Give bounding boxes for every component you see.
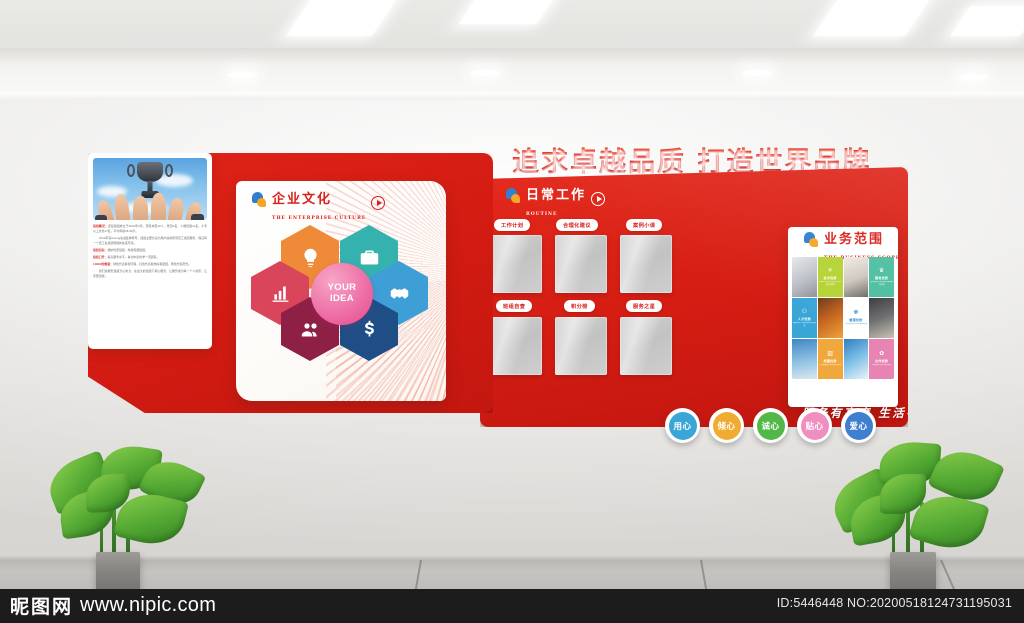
trophy-icon [137,162,163,182]
room-scene: 追求卓越品质 打造世界品牌 日常工作 ROUTINE 工作计划 合理化建议 案例… [0,0,1024,623]
value-badge-label: 贴心 [801,412,829,440]
scope-photo-tile[interactable] [818,298,843,338]
idea-line2: IDEA [330,294,354,305]
enterprise-culture-card: 企业文化 THE ENTERPRISE CULTURE [236,181,446,401]
trophy-handle-icon [127,164,135,177]
team-body-paragraph: 班组目标：维护优质班组，构建和谐班组。 [93,248,207,253]
routine-pill[interactable]: 合理化建议 [556,219,598,231]
team-and-culture-panel: 班组简介 TEAM PROFILE [88,153,493,413]
potted-plant-right [828,438,1008,578]
culture-heading: 企业文化 THE ENTERPRISE CULTURE [250,191,385,223]
scope-tile-label: 管理优势 [849,317,862,322]
watermark-id: ID:5446448 NO:20200518124731195031 [777,596,1012,610]
team-body-paragraph: 班组口号：提高服务水平，争创中泰化学一流团队。 [93,255,207,260]
team-profile-card: 班组概况：该班组组成立于2012年3月，现有成员22人，党员2名，少数民族11名… [88,153,212,349]
routine-pill[interactable]: 工作计划 [494,219,530,231]
routine-pill[interactable]: 班组自查 [496,300,532,312]
value-badge[interactable]: 诚心 [753,408,788,443]
scope-tile-subtext: 高素质人才梯队持续培养输送 [793,322,816,327]
team-body-key: 班组口号： [93,255,107,259]
team-body-key: 班组概况： [93,224,108,228]
play-arrow-icon [371,196,385,210]
scope-tile-icon: ✾ [853,310,858,316]
culture-hexagon-cluster: YOUR IDEA [248,225,436,365]
scope-tile-label: 技术优势 [824,275,837,280]
scope-tile-label: 人才优势 [798,316,811,321]
team-body-paragraph: 班组概况：该班组组成立于2012年3月，现有成员22人，党员2名，少数民族11名… [93,224,207,233]
scope-info-tile[interactable]: ✾管理优势科学管理体系规范高效运营 [844,298,869,338]
routine-pill[interactable]: 积分榜 [564,300,595,312]
ceiling-light-panel [950,6,1024,36]
scope-tile-icon: ♛ [879,268,884,274]
your-idea-center-badge: YOUR IDEA [311,263,373,325]
bubble-dots-icon [250,192,267,209]
trophy-photo [93,158,207,220]
potted-plant-left [40,440,210,575]
routine-title-cn: 日常工作 [526,188,586,203]
scope-tile-label: 服务优势 [875,275,888,280]
scope-title-cn: 业务范围 [824,232,884,247]
watermark-url: www.nipic.com [80,594,216,617]
scope-tile-label: 质量优势 [824,358,837,363]
ceiling-light-panel [813,0,935,36]
watermark-left: 昵图网 www.nipic.com [10,592,216,619]
scope-photo-tile[interactable] [869,298,894,338]
ceiling-downlight [470,70,500,76]
scope-tile-subtext: 专业技术团队提供全方位技术支持服务 [819,281,842,286]
bubble-dots-icon [802,232,819,249]
value-badge-label: 诚心 [757,412,785,440]
ceiling-downlight [958,74,988,80]
culture-title-en: THE ENTERPRISE CULTURE [272,216,366,221]
scope-tile-subtext: 严格质量管控标准层层把关 [819,364,842,367]
routine-title-en: ROUTINE [526,212,557,217]
ceiling-light-panel [459,0,560,24]
team-body-key: LOGO的寓意： [93,262,113,266]
photo-frame[interactable] [555,235,607,293]
scope-tile-subtext: 科学管理体系规范高效运营 [845,323,868,326]
play-arrow-icon [591,192,605,206]
scope-tile-label: 合作优势 [875,358,888,363]
scope-photo-tile[interactable] [792,257,817,297]
business-scope-mosaic: ☀技术优势专业技术团队提供全方位技术支持服务♛服务优势全天候客户服务响应快速解决… [792,257,894,379]
scope-tile-icon: ▥ [827,351,833,357]
team-body-paragraph: LOGO的寓意：绿色代表着和环保，红色代表着热情和团结，黄色代表阳光。 [93,262,207,267]
scope-info-tile[interactable]: ☀技术优势专业技术团队提供全方位技术支持服务 [818,257,843,297]
value-badge[interactable]: 贴心 [797,408,832,443]
team-body-paragraph: 2012年获among先进集体称号，班组主要负责为用户提供所有员工通道服务，保证… [93,236,207,245]
scope-tile-icon: ☀ [827,268,832,274]
ceiling-light-panel [286,0,400,36]
photo-frame[interactable] [620,317,672,375]
scope-photo-tile[interactable] [792,339,817,379]
team-profile-body: 班组概况：该班组组成立于2012年3月，现有成员22人，党员2名，少数民族11名… [93,224,207,279]
value-badge-label: 爱心 [845,412,873,440]
ceiling-band [0,48,1024,62]
scope-tile-subtext: 长期稳定合作共赢发展 [872,364,891,367]
ceiling [0,0,1024,108]
value-badge[interactable]: 用心 [665,408,700,443]
scope-info-tile[interactable]: ⚇人才优势高素质人才梯队持续培养输送 [792,298,817,338]
team-body-key: 班组目标： [93,248,107,252]
value-badge-label: 倾心 [713,412,741,440]
routine-pill[interactable]: 案例小课 [626,219,662,231]
ceiling-edge [0,92,1024,100]
value-badge[interactable]: 倾心 [709,408,744,443]
scope-info-tile[interactable]: ♛服务优势全天候客户服务响应快速解决问题 [869,257,894,297]
photo-frame[interactable] [490,317,542,375]
ceiling-downlight [742,70,772,76]
team-body-paragraph: 我们的服务班组齐心协力，在最大的班组下用心服务，让服务成为每一个人的家，让家更温… [93,269,207,278]
culture-title-cn: 企业文化 [272,192,332,207]
scope-tile-subtext: 全天候客户服务响应快速解决问题 [870,281,893,286]
scope-tile-icon: ⚇ [802,309,807,315]
scope-tile-icon: ✿ [879,351,884,357]
routine-heading: 日常工作 ROUTINE [504,187,605,219]
routine-pill[interactable]: 服务之星 [626,300,662,312]
bubble-dots-icon [504,188,521,205]
value-badge-label: 用心 [669,412,697,440]
scope-photo-tile[interactable] [844,339,869,379]
business-scope-card: 业务范围 THE BUSINESS SCOPE ☀技术优势专业技术团队提供全方位… [788,227,898,407]
ceiling-downlight [228,72,258,78]
photo-frame[interactable] [555,317,607,375]
photo-frame[interactable] [620,235,672,293]
scope-info-tile[interactable]: ✿合作优势长期稳定合作共赢发展 [869,339,894,379]
trophy-handle-icon [165,164,173,177]
watermark-brand-cn: 昵图网 [10,592,73,619]
scope-info-tile[interactable]: ▥质量优势严格质量管控标准层层把关 [818,339,843,379]
routine-and-scope-panel: 日常工作 ROUTINE 工作计划 合理化建议 案例小课 班组自查 积分榜 服务… [480,167,908,427]
photo-frame[interactable] [490,235,542,293]
wall-display-board: 日常工作 ROUTINE 工作计划 合理化建议 案例小课 班组自查 积分榜 服务… [88,142,908,432]
scope-photo-tile[interactable] [844,257,869,297]
